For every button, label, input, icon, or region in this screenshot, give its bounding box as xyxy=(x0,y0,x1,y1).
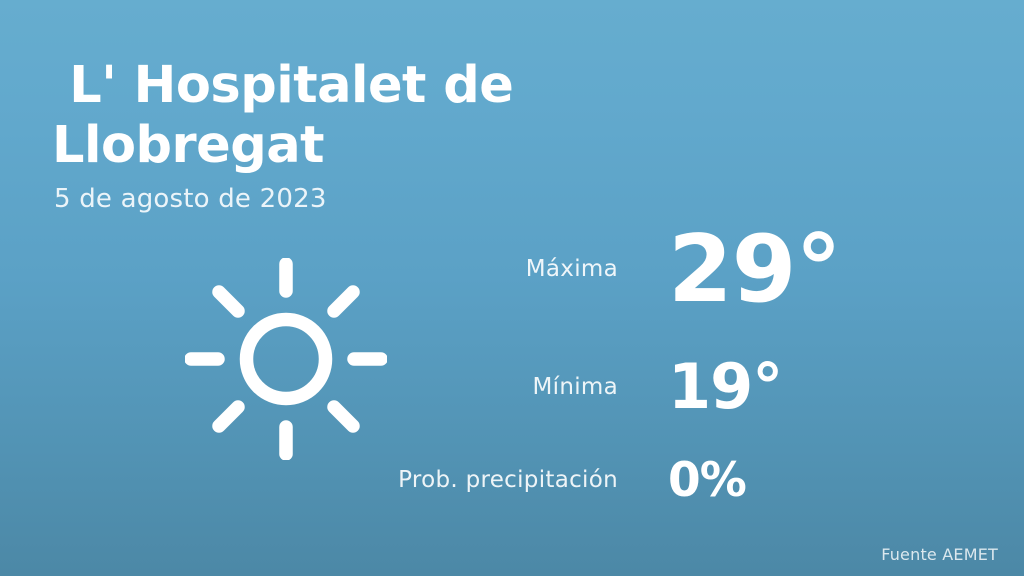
weather-card: L' Hospitalet de Llobregat 5 de agosto d… xyxy=(0,0,1024,576)
table-row-precipitacion: Prob. precipitación 0% xyxy=(380,442,980,518)
value-maxima: 29° xyxy=(668,223,841,316)
sun-icon xyxy=(185,258,387,460)
value-precipitacion: 0% xyxy=(668,457,746,504)
table-row-minima: Mínima 19° xyxy=(380,332,980,442)
forecast-data-table: Máxima 29° Mínima 19° Prob. precipitació… xyxy=(380,206,980,518)
table-row-maxima: Máxima 29° xyxy=(380,206,980,332)
label-minima: Mínima xyxy=(380,374,668,400)
source-credit: Fuente AEMET xyxy=(881,545,998,564)
label-maxima: Máxima xyxy=(380,256,668,282)
header: L' Hospitalet de Llobregat 5 de agosto d… xyxy=(52,56,652,214)
page-title: L' Hospitalet de Llobregat xyxy=(52,56,652,176)
label-precipitacion: Prob. precipitación xyxy=(380,467,668,493)
value-minima: 19° xyxy=(668,356,782,418)
